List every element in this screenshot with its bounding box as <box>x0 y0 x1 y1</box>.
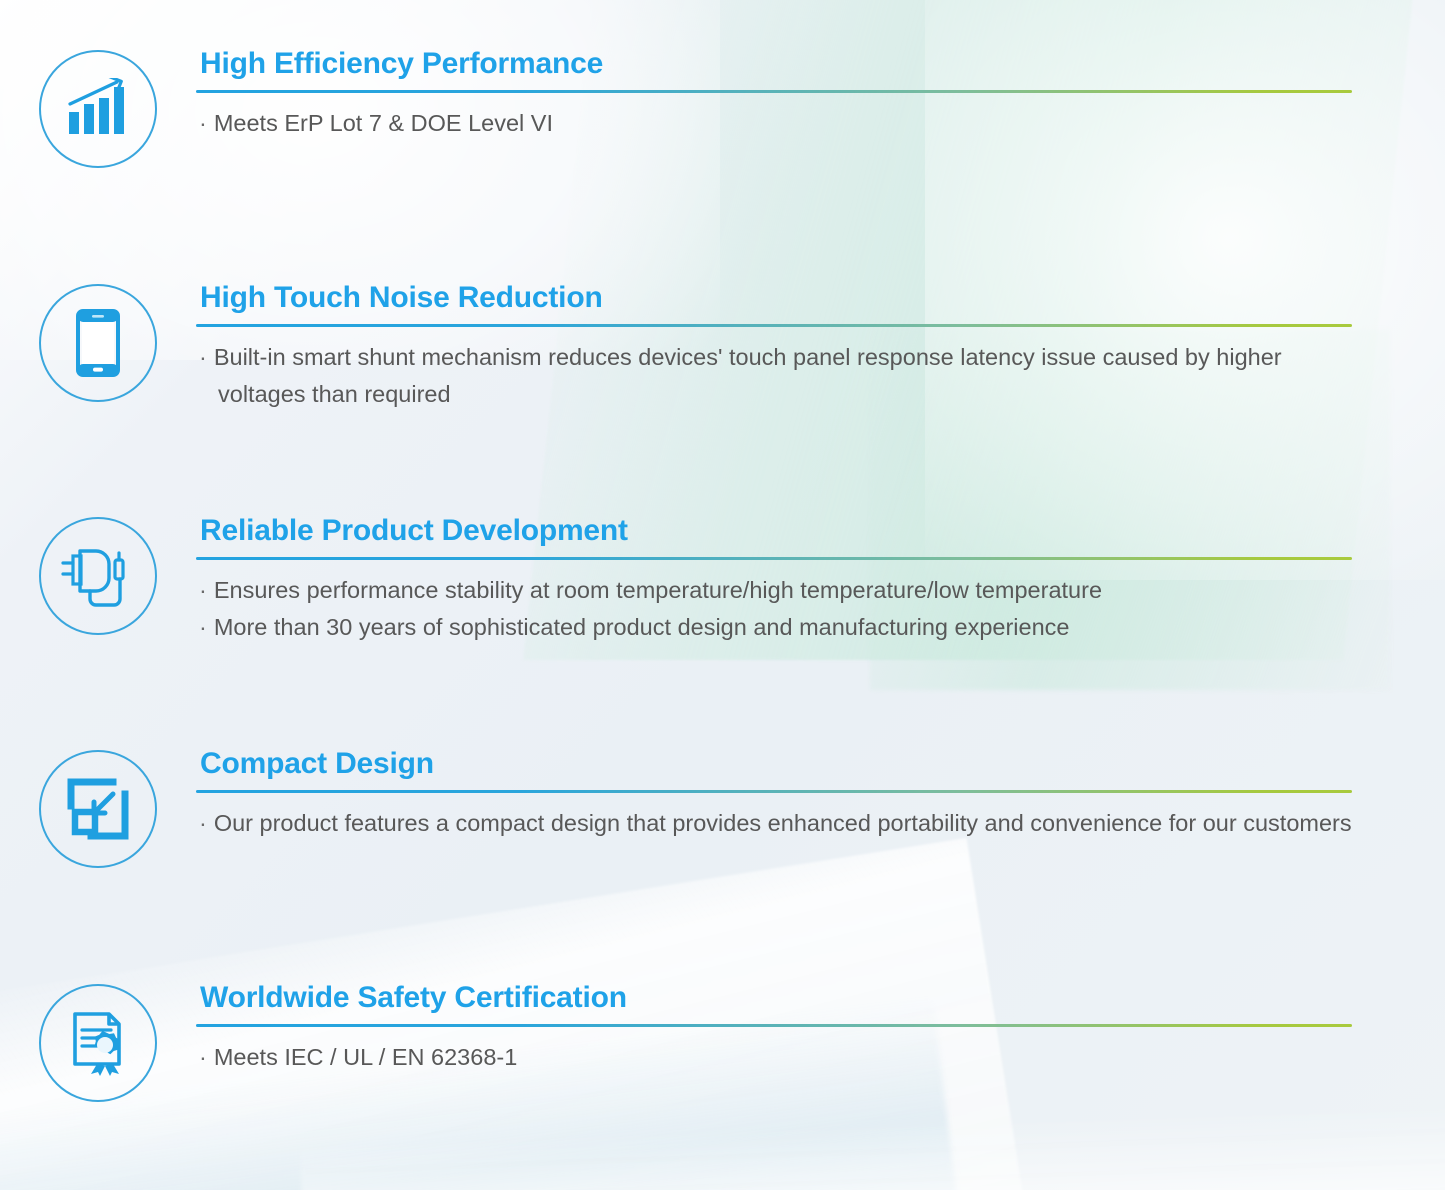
feature-divider <box>196 90 1352 93</box>
feature-bullet-list: ·Ensures performance stability at room t… <box>196 572 1365 646</box>
feature-item-worldwide-safety-certification: Worldwide Safety Certification ·Meets IE… <box>0 982 1445 1102</box>
feature-divider <box>196 790 1352 793</box>
feature-icon-wrap <box>0 515 196 635</box>
feature-text-column: Compact Design ·Our product features a c… <box>196 748 1445 842</box>
icon-circle <box>39 50 157 168</box>
feature-bullet-list: ·Meets ErP Lot 7 & DOE Level VI <box>196 105 1365 142</box>
features-list: High Efficiency Performance ·Meets ErP L… <box>0 0 1445 1190</box>
feature-icon-wrap <box>0 48 196 168</box>
bullet-text: Meets ErP Lot 7 & DOE Level VI <box>214 110 553 136</box>
feature-item-high-efficiency-performance: High Efficiency Performance ·Meets ErP L… <box>0 48 1445 168</box>
feature-divider <box>196 324 1352 327</box>
power-adapter-icon <box>60 543 136 609</box>
feature-title: Compact Design <box>196 748 1365 790</box>
feature-bullet-list: ·Meets IEC / UL / EN 62368-1 <box>196 1039 1365 1076</box>
icon-circle <box>39 984 157 1102</box>
list-item: ·Built-in smart shunt mechanism reduces … <box>196 339 1365 413</box>
list-item: ·Our product features a compact design t… <box>196 805 1365 842</box>
feature-icon-wrap <box>0 282 196 402</box>
feature-bullet-list: ·Built-in smart shunt mechanism reduces … <box>196 339 1365 413</box>
feature-text-column: Worldwide Safety Certification ·Meets IE… <box>196 982 1445 1076</box>
icon-circle <box>39 284 157 402</box>
feature-item-high-touch-noise-reduction: High Touch Noise Reduction ·Built-in sma… <box>0 282 1445 413</box>
bullet-marker: · <box>199 577 207 603</box>
bullet-marker: · <box>199 1044 207 1070</box>
feature-title: Reliable Product Development <box>196 515 1365 557</box>
feature-item-compact-design: Compact Design ·Our product features a c… <box>0 748 1445 868</box>
list-item: ·Meets ErP Lot 7 & DOE Level VI <box>196 105 1365 142</box>
feature-highlights-page: High Efficiency Performance ·Meets ErP L… <box>0 0 1445 1190</box>
feature-icon-wrap <box>0 748 196 868</box>
feature-divider <box>196 1024 1352 1027</box>
feature-title: High Touch Noise Reduction <box>196 282 1365 324</box>
feature-title: Worldwide Safety Certification <box>196 982 1365 1024</box>
icon-circle <box>39 517 157 635</box>
feature-text-column: Reliable Product Development ·Ensures pe… <box>196 515 1445 646</box>
bullet-text: Meets IEC / UL / EN 62368-1 <box>214 1044 517 1070</box>
list-item: ·Meets IEC / UL / EN 62368-1 <box>196 1039 1365 1076</box>
feature-title: High Efficiency Performance <box>196 48 1365 90</box>
bullet-marker: · <box>199 344 207 370</box>
bullet-marker: · <box>199 110 207 136</box>
list-item: ·Ensures performance stability at room t… <box>196 572 1365 609</box>
feature-text-column: High Efficiency Performance ·Meets ErP L… <box>196 48 1445 142</box>
bullet-text: Our product features a compact design th… <box>214 810 1352 836</box>
feature-icon-wrap <box>0 982 196 1102</box>
feature-text-column: High Touch Noise Reduction ·Built-in sma… <box>196 282 1445 413</box>
smartphone-icon <box>76 309 120 377</box>
feature-item-reliable-product-development: Reliable Product Development ·Ensures pe… <box>0 515 1445 646</box>
bullet-text: Ensures performance stability at room te… <box>214 577 1102 603</box>
bullet-marker: · <box>199 614 207 640</box>
icon-circle <box>39 750 157 868</box>
certificate-award-icon <box>67 1010 129 1076</box>
bar-chart-growth-icon <box>65 78 131 140</box>
bullet-text: Built-in smart shunt mechanism reduces d… <box>214 344 1282 407</box>
bullet-text: More than 30 years of sophisticated prod… <box>214 614 1070 640</box>
feature-bullet-list: ·Our product features a compact design t… <box>196 805 1365 842</box>
feature-divider <box>196 557 1352 560</box>
compact-resize-icon <box>67 778 129 840</box>
bullet-marker: · <box>199 810 207 836</box>
list-item: ·More than 30 years of sophisticated pro… <box>196 609 1365 646</box>
